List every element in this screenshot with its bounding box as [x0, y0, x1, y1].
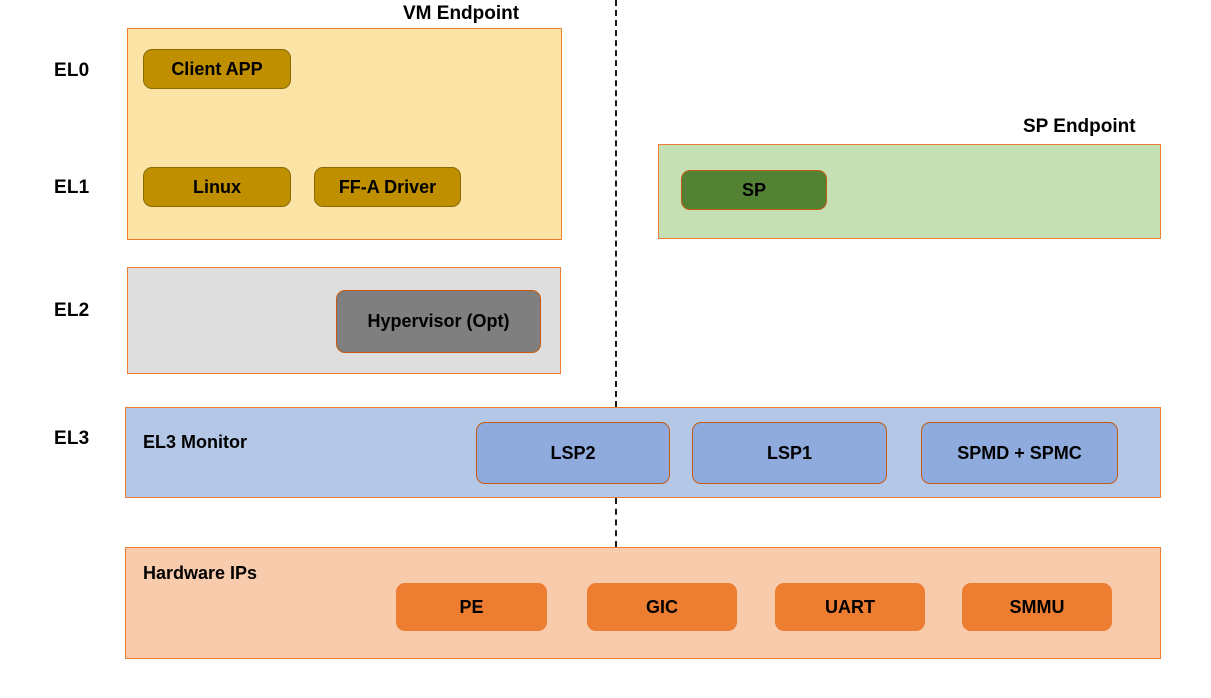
- architecture-diagram: EL0 EL1 EL2 EL3 VM Endpoint SP Endpoint …: [0, 0, 1211, 698]
- exception-level-label-el2: EL2: [54, 300, 89, 322]
- component-smmu[interactable]: SMMU: [962, 583, 1112, 631]
- el3-monitor-caption: EL3 Monitor: [143, 432, 247, 453]
- component-uart[interactable]: UART: [775, 583, 925, 631]
- hardware-ips-panel: Hardware IPs PE GIC UART SMMU: [125, 547, 1161, 659]
- hardware-ips-caption: Hardware IPs: [143, 563, 257, 584]
- component-lsp2[interactable]: LSP2: [476, 422, 670, 484]
- component-client-app[interactable]: Client APP: [143, 49, 291, 89]
- exception-level-label-el3: EL3: [54, 428, 89, 450]
- component-gic[interactable]: GIC: [587, 583, 737, 631]
- component-sp[interactable]: SP: [681, 170, 827, 210]
- exception-level-label-el0: EL0: [54, 60, 89, 82]
- component-pe[interactable]: PE: [396, 583, 547, 631]
- sp-endpoint-panel: SP: [658, 144, 1161, 239]
- component-lsp1[interactable]: LSP1: [692, 422, 887, 484]
- vm-endpoint-panel: Client APP Linux FF-A Driver: [127, 28, 562, 240]
- secure-world-divider-upper: [615, 0, 617, 407]
- exception-level-label-el1: EL1: [54, 177, 89, 199]
- vm-endpoint-title: VM Endpoint: [403, 3, 519, 25]
- component-ffa-driver[interactable]: FF-A Driver: [314, 167, 461, 207]
- component-spmd-spmc[interactable]: SPMD + SPMC: [921, 422, 1118, 484]
- secure-world-divider-lower: [615, 498, 617, 547]
- el3-monitor-panel: EL3 Monitor LSP2 LSP1 SPMD + SPMC: [125, 407, 1161, 498]
- el2-panel: Hypervisor (Opt): [127, 267, 561, 374]
- component-hypervisor[interactable]: Hypervisor (Opt): [336, 290, 541, 353]
- sp-endpoint-title: SP Endpoint: [1023, 116, 1136, 138]
- component-linux[interactable]: Linux: [143, 167, 291, 207]
